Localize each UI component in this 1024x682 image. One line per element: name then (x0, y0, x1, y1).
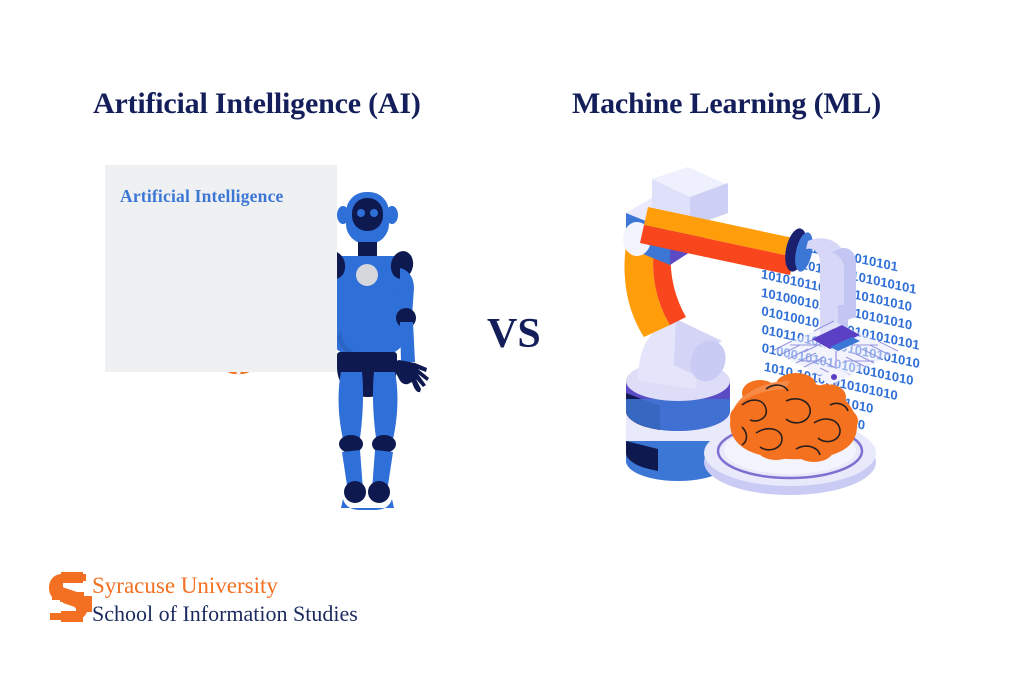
brain-contact-point (831, 374, 837, 380)
robot-forearm-right (400, 322, 415, 362)
block-s-bottom-bar (61, 611, 83, 622)
block-s-waist (60, 592, 84, 602)
page-title-ai: Artificial Intelligence (AI) (93, 87, 421, 121)
logo-school-name: School of Information Studies (92, 601, 358, 627)
versus-label: VS (487, 310, 541, 358)
block-s-icon (48, 570, 96, 624)
robot-chest-core (356, 264, 378, 286)
robot-ankle-right (368, 481, 390, 503)
robot-ear-left (337, 206, 349, 224)
ml-illustration: 010110100101010101 010101010010101010101… (590, 165, 970, 515)
robot-waist (337, 352, 397, 359)
page-title-ml: Machine Learning (ML) (572, 87, 881, 121)
block-s-top-bar (61, 572, 83, 583)
robot-ear-right (386, 206, 398, 224)
robot-thigh-right (373, 372, 398, 439)
robot-hand-right (394, 360, 429, 392)
ai-illustration: Artificial Intelligence (0, 0, 470, 540)
robot-eye-left (357, 209, 365, 217)
ai-panel-label: Artificial Intelligence (120, 186, 284, 207)
robot-eye-right (370, 209, 378, 217)
robot-thigh-left (339, 372, 364, 439)
robot-ankle-left (344, 481, 366, 503)
robot-head (337, 192, 398, 244)
robot-face-plate (352, 198, 383, 231)
robot-neck (358, 242, 377, 256)
logo-university-name: Syracuse University (92, 573, 278, 599)
ml-illustration-svg: 010110100101010101 010101010010101010101… (590, 165, 970, 515)
